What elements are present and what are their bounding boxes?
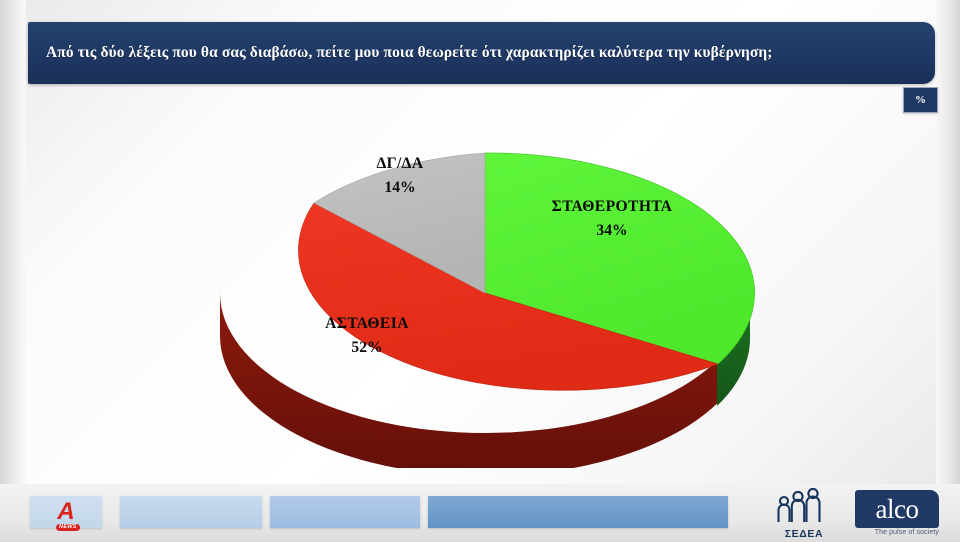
left-edge-shading [0,0,26,542]
broadcaster-logo: ANEWS [30,496,102,528]
footer-strip-2 [270,496,420,528]
sedea-logo: ΣΕΔΕΑ [766,488,842,540]
right-edge-shading [936,0,960,542]
alco-wordmark: alco [876,496,919,523]
pie-chart-svg: ΣΤΑΘΕΡΟΤΗΤΑ 34% ΑΣΤΑΘΕΙΑ 52% ΔΓ/ΔΑ 14% [185,118,785,468]
alco-tagline: The pulse of society [855,529,939,536]
pie-label-dgda-name: ΔΓ/ΔΑ [376,155,423,172]
pie-chart: ΣΤΑΘΕΡΟΤΗΤΑ 34% ΑΣΤΑΘΕΙΑ 52% ΔΓ/ΔΑ 14% [185,118,785,468]
sedea-people-icon [766,488,842,524]
question-header-bar: Από τις δύο λέξεις που θα σας διαβάσω, π… [28,22,935,84]
pie-label-statherotita-name: ΣΤΑΘΕΡΟΤΗΤΑ [552,198,673,215]
percent-unit-badge: % [903,87,938,113]
pie-label-statherotita-value: 34% [596,222,627,239]
broadcaster-news-badge: NEWS [56,524,80,532]
pie-label-astatheia-name: ΑΣΤΑΘΕΙΑ [325,315,409,332]
question-text: Από τις δύο λέξεις που θα σας διαβάσω, π… [46,22,921,84]
sedea-label: ΣΕΔΕΑ [766,528,842,540]
pie-label-astatheia-value: 52% [351,339,382,356]
footer-strip-3 [428,496,728,528]
broadcaster-letter: ANEWS [57,500,74,524]
footer-bar: ANEWS ΣΕΔΕΑ alco The pulse of society [0,484,960,542]
alco-logo: alco [855,490,939,528]
footer-strip-1 [120,496,262,528]
pie-label-dgda-value: 14% [384,179,415,196]
slide-canvas: Από τις δύο λέξεις που θα σας διαβάσω, π… [0,0,960,542]
